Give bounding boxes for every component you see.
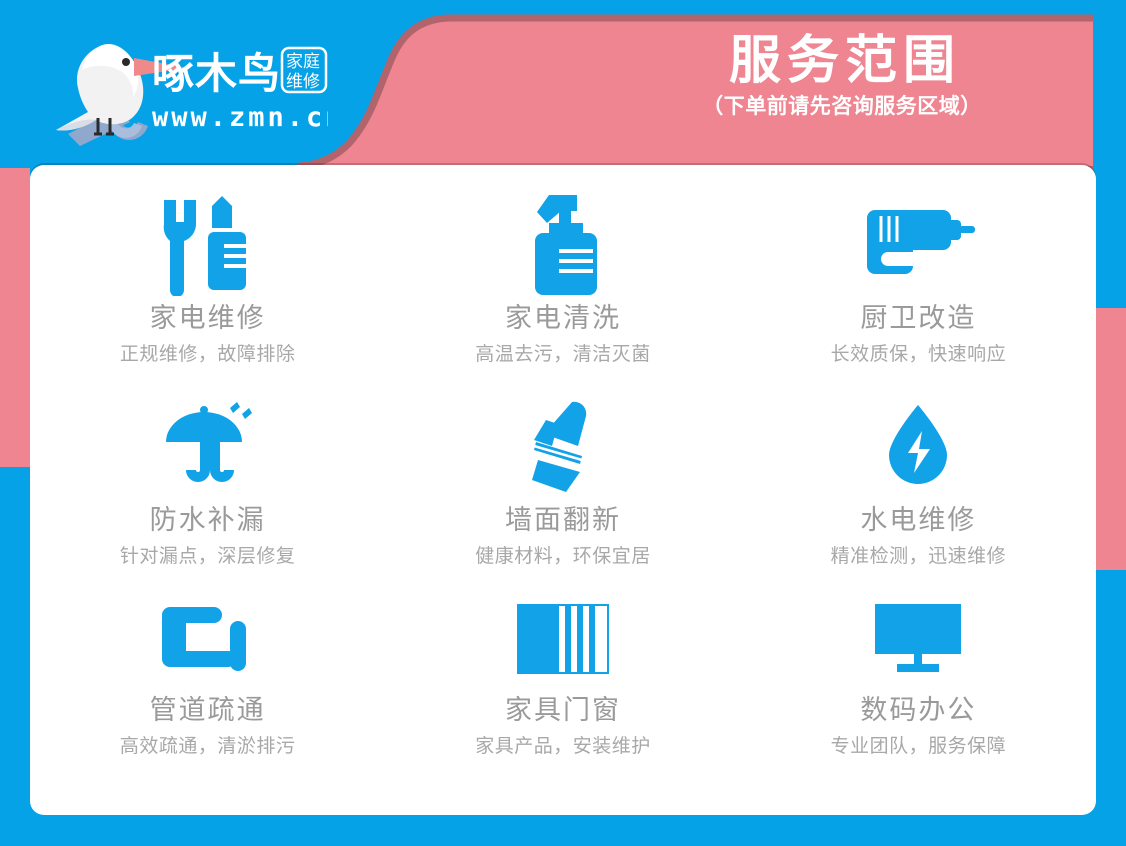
service-desc: 针对漏点，深层修复 [120, 545, 296, 568]
power-drill-icon [861, 191, 975, 299]
poster-header: 啄木鸟 家庭 维修 www.zmn.cn 服务范围 （下单前请先咨询服务区域） [0, 0, 1126, 166]
service-desc: 高效疏通，清淤排污 [120, 735, 296, 758]
service-title: 家具门窗 [505, 695, 621, 727]
brand-badge-line1: 家庭 [286, 52, 320, 72]
service-title: 数码办公 [860, 695, 976, 727]
water-drop-bolt-icon [885, 389, 951, 501]
spray-bottle-icon [523, 191, 603, 299]
page-subtitle: （下单前请先咨询服务区域） [602, 94, 1082, 119]
brand-badge-line2: 维修 [286, 72, 320, 92]
faucet-pipe-icon [162, 587, 254, 691]
service-title: 厨卫改造 [860, 303, 976, 335]
page-title: 服务范围 [602, 32, 1082, 90]
window-door-icon [517, 587, 609, 691]
service-item-waterproofing[interactable]: 防水补漏 针对漏点，深层修复 [30, 381, 385, 579]
service-desc: 专业团队，服务保障 [831, 735, 1007, 758]
wrench-screwdriver-icon [160, 191, 256, 299]
service-item-plumbing-electrical[interactable]: 水电维修 精准检测，迅速维修 [741, 381, 1096, 579]
umbrella-icon [162, 389, 254, 501]
service-item-digital-office[interactable]: 数码办公 专业团队，服务保障 [741, 579, 1096, 777]
left-pink-band [0, 168, 30, 467]
service-item-drain-cleaning[interactable]: 管道疏通 高效疏通，清淤排污 [30, 579, 385, 777]
service-title: 家电维修 [150, 303, 266, 335]
service-title: 水电维修 [860, 505, 976, 537]
brand-name-text: 啄木鸟 [152, 49, 281, 98]
monitor-icon [875, 587, 961, 691]
paint-brush-icon [516, 389, 610, 501]
brand-logo: 啄木鸟 家庭 维修 www.zmn.cn [38, 22, 328, 150]
service-desc: 精准检测，迅速维修 [831, 545, 1007, 568]
service-desc: 健康材料，环保宜居 [475, 545, 651, 568]
service-scope-poster: 啄木鸟 家庭 维修 www.zmn.cn 服务范围 （下单前请先咨询服务区域） [0, 0, 1126, 846]
service-desc: 家具产品，安装维护 [475, 735, 651, 758]
service-item-appliance-cleaning[interactable]: 家电清洗 高温去污，清洁灭菌 [385, 183, 740, 381]
services-grid: 家电维修 正规维修，故障排除 [30, 183, 1096, 777]
service-title: 管道疏通 [150, 695, 266, 727]
woodpecker-bird-wrench-logo-icon: 啄木鸟 家庭 维修 www.zmn.cn [38, 22, 328, 150]
services-card: 家电维修 正规维修，故障排除 [30, 165, 1096, 815]
service-item-furniture-doors-windows[interactable]: 家具门窗 家具产品，安装维护 [385, 579, 740, 777]
service-desc: 高温去污，清洁灭菌 [475, 343, 651, 366]
header-text-block: 服务范围 （下单前请先咨询服务区域） [602, 32, 1082, 119]
service-title: 防水补漏 [150, 505, 266, 537]
service-title: 家电清洗 [505, 303, 621, 335]
service-item-kitchen-bath-remodel[interactable]: 厨卫改造 长效质保，快速响应 [741, 183, 1096, 381]
service-title: 墙面翻新 [505, 505, 621, 537]
service-desc: 正规维修，故障排除 [120, 343, 296, 366]
service-desc: 长效质保，快速响应 [831, 343, 1007, 366]
service-item-wall-renovation[interactable]: 墙面翻新 健康材料，环保宜居 [385, 381, 740, 579]
right-pink-band [1096, 308, 1126, 570]
service-item-appliance-repair[interactable]: 家电维修 正规维修，故障排除 [30, 183, 385, 381]
brand-url-text: www.zmn.cn [152, 102, 328, 133]
